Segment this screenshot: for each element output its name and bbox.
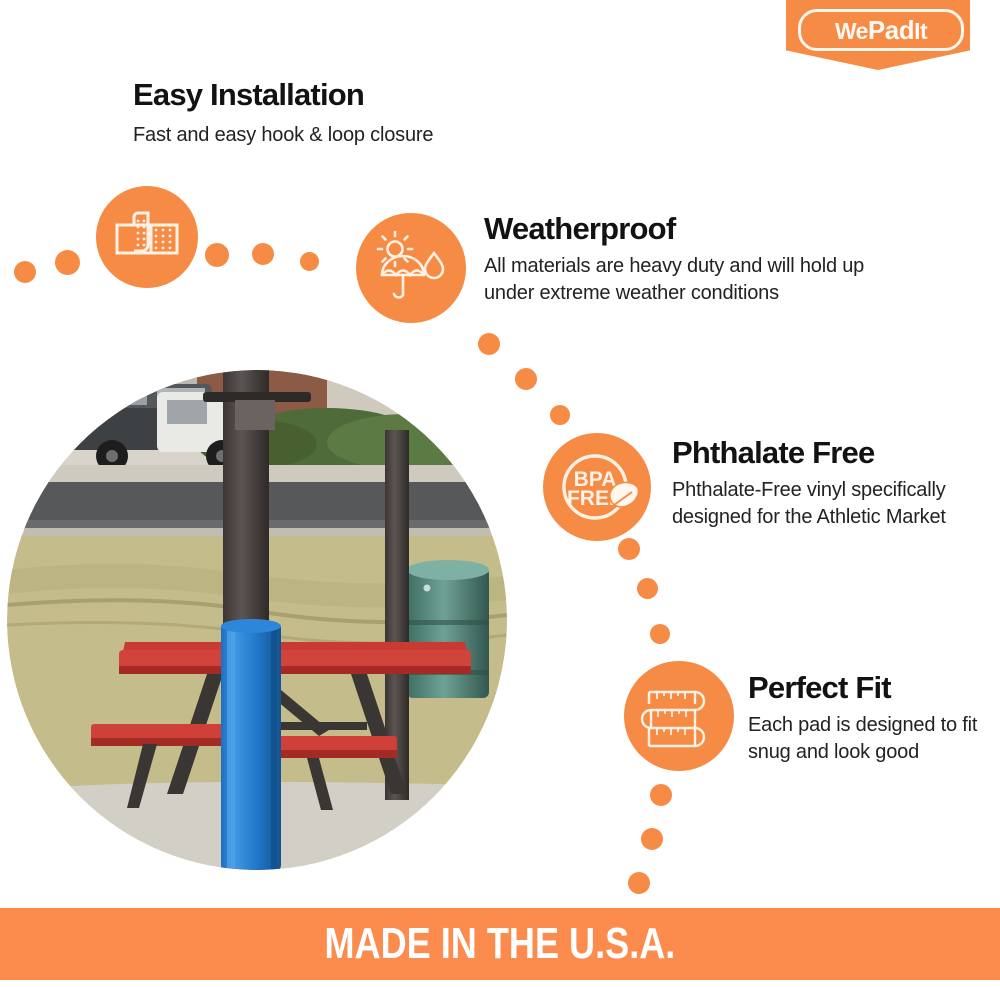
path-dot <box>628 872 650 894</box>
feature-title: Phthalate Free <box>672 437 972 470</box>
feature-title: Weatherproof <box>484 213 914 246</box>
path-dot <box>55 250 80 275</box>
feature-block-weatherproof: Weatherproof All materials are heavy dut… <box>484 213 914 307</box>
logo-text-we: We <box>835 18 868 44</box>
path-dot <box>252 243 274 265</box>
path-dot <box>550 405 570 425</box>
product-infographic: WePadIt Easy Installation Fast and easy … <box>0 0 1000 987</box>
feature-title: Easy Installation <box>133 79 433 112</box>
path-dot <box>205 243 229 267</box>
logo-outline: WePadIt <box>798 9 964 51</box>
path-dot <box>300 252 319 271</box>
path-dot <box>478 333 500 355</box>
path-dot <box>14 261 36 283</box>
logo-text: WePadIt <box>835 17 927 43</box>
bpa-free-leaf-icon: BPA FREE <box>554 444 640 530</box>
hook-and-loop-strap-icon <box>114 209 180 265</box>
path-dot <box>515 368 537 390</box>
path-dot <box>641 828 663 850</box>
brand-logo[interactable]: WePadIt <box>786 0 970 70</box>
made-in-usa-banner: MADE IN THE U.S.A. <box>0 908 1000 980</box>
icon-circle-perfect-fit[interactable] <box>624 661 734 771</box>
product-photo <box>7 370 507 870</box>
path-dot <box>650 624 670 644</box>
path-dot <box>637 578 658 599</box>
icon-circle-easy-installation[interactable] <box>96 186 198 288</box>
icon-circle-weatherproof[interactable] <box>356 213 466 323</box>
feature-description: Fast and easy hook & loop closure <box>133 122 433 149</box>
footer-text: MADE IN THE U.S.A. <box>325 919 676 969</box>
logo-text-it: It <box>914 18 927 44</box>
path-dot <box>650 784 672 806</box>
sun-umbrella-raindrop-icon <box>374 231 448 305</box>
feature-description: All materials are heavy duty and will ho… <box>484 253 914 307</box>
feature-description: Each pad is designed to fit snug and loo… <box>748 712 983 766</box>
icon-circle-phthalate-free[interactable]: BPA FREE <box>543 433 651 541</box>
logo-text-pad: Pad <box>868 15 914 45</box>
path-dot <box>618 538 640 560</box>
feature-block-phthalate-free: Phthalate Free Phthalate-Free vinyl spec… <box>672 437 972 531</box>
feature-description: Phthalate-Free vinyl specifically design… <box>672 477 972 531</box>
feature-block-perfect-fit: Perfect Fit Each pad is designed to fit … <box>748 672 983 766</box>
measuring-tape-icon <box>639 676 719 756</box>
feature-title: Perfect Fit <box>748 672 983 705</box>
feature-block-easy-installation: Easy Installation Fast and easy hook & l… <box>133 79 433 149</box>
